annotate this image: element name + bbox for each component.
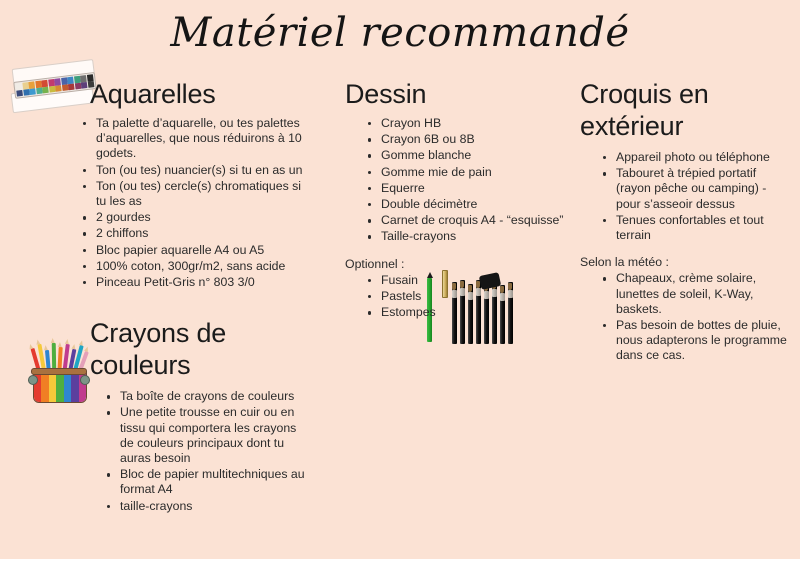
list-item: Estompes (367, 305, 570, 320)
list-item: Bloc de papier multitechniques au format… (106, 467, 310, 497)
list-item: Gomme mie de pain (367, 165, 570, 180)
list-item: Pas besoin de bottes de pluie, nous adap… (602, 318, 790, 364)
page-title: Matériel recommandé (0, 8, 800, 58)
section-heading-aquarelles: Aquarelles (90, 78, 310, 110)
list-croquis-meteo: Chapeaux, crème solaire, lunettes de sol… (580, 271, 790, 363)
column-middle: Dessin Crayon HB Crayon 6B ou 8B Gomme b… (345, 78, 570, 321)
list-item: Fusain (367, 273, 570, 288)
list-item: Ta boîte de crayons de couleurs (106, 389, 310, 404)
list-item: Carnet de croquis A4 - “esquisse” (367, 213, 570, 228)
poster-canvas: Matériel recommandé (0, 0, 800, 565)
list-item: Gomme blanche (367, 148, 570, 163)
list-item: Ton (ou tes) cercle(s) chromatiques si t… (82, 179, 310, 209)
list-item: Tabouret à trépied portatif (rayon pêche… (602, 166, 790, 212)
section-crayons-de-couleurs: Crayons de couleurs Ta boîte de crayons … (60, 317, 310, 514)
list-item: Pastels (367, 289, 570, 304)
list-dessin-optionnel: Fusain Pastels Estompes (345, 273, 570, 321)
list-aquarelles: Ta palette d’aquarelle, ou tes palettes … (60, 116, 310, 290)
list-item: taille-crayons (106, 499, 310, 514)
section-heading-dessin: Dessin (345, 78, 570, 110)
list-item: 2 gourdes (82, 210, 310, 225)
list-dessin: Crayon HB Crayon 6B ou 8B Gomme blanche … (345, 116, 570, 245)
pot-handle-left (28, 375, 38, 385)
list-item: Ton (ou tes) nuancier(s) si tu en as un (82, 163, 310, 178)
list-item: Pinceau Petit-Gris n° 803 3/0 (82, 275, 310, 290)
list-item: Bloc papier aquarelle A4 ou A5 (82, 243, 310, 258)
list-item: Equerre (367, 181, 570, 196)
list-item: 2 chiffons (82, 226, 310, 241)
section-heading-crayons-de-couleurs: Crayons de couleurs (90, 317, 310, 381)
list-item: Crayon HB (367, 116, 570, 131)
list-item: Crayon 6B ou 8B (367, 132, 570, 147)
section-heading-croquis-en-exterieur: Croquis en extérieur (580, 78, 790, 142)
list-crayons-de-couleurs: Ta boîte de crayons de couleurs Une peti… (60, 389, 310, 514)
list-croquis: Appareil photo ou téléphone Tabouret à t… (580, 150, 790, 243)
list-item: Double décimètre (367, 197, 570, 212)
list-item: Ta palette d’aquarelle, ou tes palettes … (82, 116, 310, 162)
list-item: Chapeaux, crème solaire, lunettes de sol… (602, 271, 790, 317)
list-item: Taille-crayons (367, 229, 570, 244)
column-left: Aquarelles Ta palette d’aquarelle, ou te… (60, 78, 310, 515)
list-item: Appareil photo ou téléphone (602, 150, 790, 165)
column-right: Croquis en extérieur Appareil photo ou t… (580, 78, 790, 365)
list-item: Une petite trousse en cuir ou en tissu q… (106, 405, 310, 466)
list-item: Tenues confortables et tout terrain (602, 213, 790, 243)
list-item: 100% coton, 300gr/m2, sans acide (82, 259, 310, 274)
sub-label-optionnel: Optionnel : (345, 257, 570, 272)
section-aquarelles: Aquarelles Ta palette d’aquarelle, ou te… (60, 78, 310, 290)
sub-label-selon-la-meteo: Selon la météo : (580, 255, 790, 270)
